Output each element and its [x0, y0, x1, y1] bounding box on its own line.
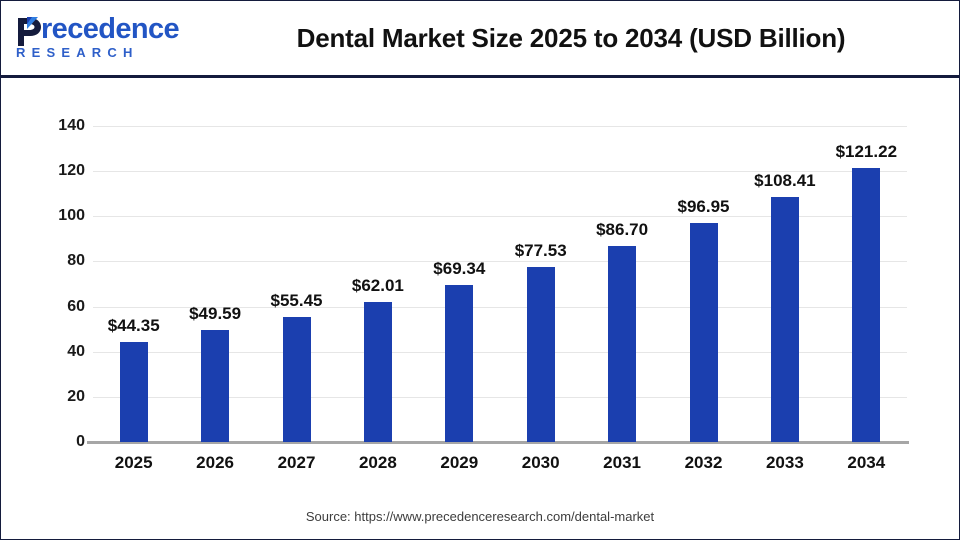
x-axis-tick-label: 2031 — [603, 453, 641, 473]
x-axis-tick-label: 2032 — [685, 453, 723, 473]
x-axis-tick-label: 2027 — [278, 453, 316, 473]
bar-value-label: $77.53 — [515, 241, 567, 261]
source-note: Source: https://www.precedenceresearch.c… — [1, 509, 959, 524]
bar-series: $44.352025$49.592026$55.452027$62.012028… — [1, 1, 959, 539]
chart-page: recedence RESEARCH Dental Market Size 20… — [0, 0, 960, 540]
bar — [445, 285, 473, 442]
bar — [852, 168, 880, 442]
bar-value-label: $108.41 — [754, 171, 815, 191]
bar-value-label: $96.95 — [678, 197, 730, 217]
x-axis-tick-label: 2033 — [766, 453, 804, 473]
bar-value-label: $44.35 — [108, 316, 160, 336]
bar-value-label: $121.22 — [836, 142, 897, 162]
bar — [364, 302, 392, 442]
bar-value-label: $69.34 — [433, 259, 485, 279]
bar — [690, 223, 718, 442]
bar-value-label: $62.01 — [352, 276, 404, 296]
bar-value-label: $86.70 — [596, 220, 648, 240]
bar — [120, 342, 148, 442]
x-axis-tick-label: 2028 — [359, 453, 397, 473]
bar — [771, 197, 799, 442]
bar — [283, 317, 311, 442]
bar — [608, 246, 636, 442]
x-axis-tick-label: 2030 — [522, 453, 560, 473]
bar — [201, 330, 229, 442]
bar-value-label: $55.45 — [271, 291, 323, 311]
x-axis-tick-label: 2025 — [115, 453, 153, 473]
x-axis-tick-label: 2034 — [847, 453, 885, 473]
bar-value-label: $49.59 — [189, 304, 241, 324]
x-axis-tick-label: 2026 — [196, 453, 234, 473]
bar — [527, 267, 555, 442]
x-axis-tick-label: 2029 — [440, 453, 478, 473]
